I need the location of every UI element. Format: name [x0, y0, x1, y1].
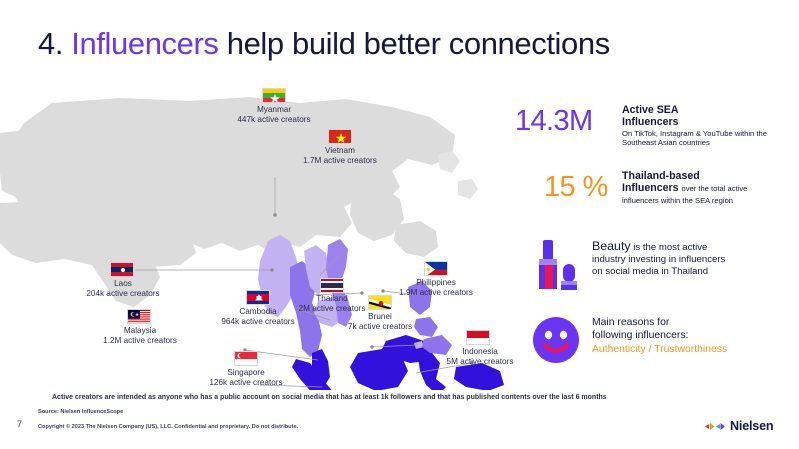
stat-headline-line1: Thailand-based [622, 170, 799, 182]
page-number: 7 [17, 419, 22, 429]
reasons-accent: Authenticity / Trustworthiness [592, 344, 727, 355]
footnote-definition: Active creators are intended as anyone w… [52, 393, 752, 402]
beauty-strong: Beauty [592, 239, 631, 253]
beauty-line1: is the most active [633, 242, 707, 253]
nielsen-logo: Nielsen [705, 419, 791, 435]
map-label-brunei: Brunei 7k active creators [320, 312, 440, 333]
stat-headline-line1: Active SEA [622, 104, 797, 116]
country-value: 1.9M active creators [376, 288, 496, 298]
country-value: 204k active creators [63, 289, 183, 299]
lipstick-icon [530, 238, 588, 293]
map-svg [0, 95, 510, 390]
country-name: Brunei [320, 312, 440, 322]
philippines-flag [424, 261, 448, 276]
country-value: 447k active creators [214, 115, 334, 125]
nielsen-logo-mark [705, 420, 727, 433]
smiley-face-icon [532, 316, 580, 364]
country-name: Myanmar [214, 105, 334, 115]
title-prefix: 4. [38, 26, 63, 61]
title-highlight: Influencers [71, 26, 218, 61]
title-rest: help build better connections [227, 26, 610, 61]
reasons-insight: Main reasons for following influencers: … [512, 312, 797, 372]
reasons-line1: Main reasons for [592, 317, 669, 328]
country-value: 1.7M active creators [280, 156, 400, 166]
brunei-flag [368, 295, 392, 310]
laos-flag [110, 262, 134, 277]
map-label-myanmar: Myanmar 447k active creators [214, 105, 334, 126]
map-base-landmass [0, 97, 478, 307]
country-name: Vietnam [280, 146, 400, 156]
reasons-line2: following influencers: [592, 330, 688, 341]
slide-canvas: 4. Influencers help build better connect… [0, 0, 799, 449]
sea-map: Myanmar 447k active creators Vietnam 1.7… [0, 95, 510, 390]
beauty-insight: Beauty is the most active industry inves… [512, 236, 797, 296]
singapore-flag [234, 351, 258, 366]
country-value: 7k active creators [320, 322, 440, 332]
map-label-malaysia: Malaysia 1.2M active creators [80, 326, 200, 347]
map-label-laos: Laos 204k active creators [63, 279, 183, 300]
stat-headline-line2: Influencers [622, 116, 797, 128]
footnote-copyright: Copyright © 2023 The Nielsen Company (US… [38, 423, 298, 431]
page-title: 4. Influencers help build better connect… [38, 26, 610, 62]
map-label-vietnam: Vietnam 1.7M active creators [280, 146, 400, 167]
country-name: Laos [63, 279, 183, 289]
footnote-source: Source: Nielsen InfluenceScope [38, 408, 123, 416]
country-name: Singapore [186, 368, 306, 378]
cambodia-flag [246, 290, 270, 305]
country-value: 1.2M active creators [80, 336, 200, 346]
stat-value-14-3m: 14.3M [515, 106, 593, 136]
country-name: Thailand [282, 294, 382, 304]
malaysia-flag [127, 309, 151, 324]
map-label-philippines: Philippines 1.9M active creators [376, 278, 496, 299]
country-name: Philippines [376, 278, 496, 288]
map-label-singapore: Singapore 126k active creators [186, 368, 306, 389]
reasons-text: Main reasons for following influencers: … [592, 316, 797, 356]
stat-value-15-percent: 15 % [544, 172, 608, 202]
stat-subtext: On TikTok, Instagram & YouTube within th… [622, 129, 797, 147]
vietnam-flag [328, 129, 352, 144]
nielsen-logo-text: Nielsen [730, 419, 773, 433]
country-value: 964k active creators [198, 317, 318, 327]
indonesia-flag [466, 330, 490, 345]
thailand-flag [320, 278, 344, 293]
myanmar-flag [262, 88, 286, 103]
beauty-line2: industry investing in influencers [592, 254, 725, 265]
stat-inline-sub: over the total active [681, 184, 747, 193]
beauty-text: Beauty is the most active industry inves… [592, 240, 792, 278]
stat-subtext: influencers within the SEA region [622, 196, 799, 205]
country-value: 126k active creators [186, 378, 306, 388]
stat-headline-strong: Influencers [622, 182, 679, 194]
country-name: Malaysia [80, 326, 200, 336]
beauty-line3: on social media in Thailand [592, 266, 708, 277]
stat-headline-line2: Influencers over the total active [622, 182, 799, 195]
